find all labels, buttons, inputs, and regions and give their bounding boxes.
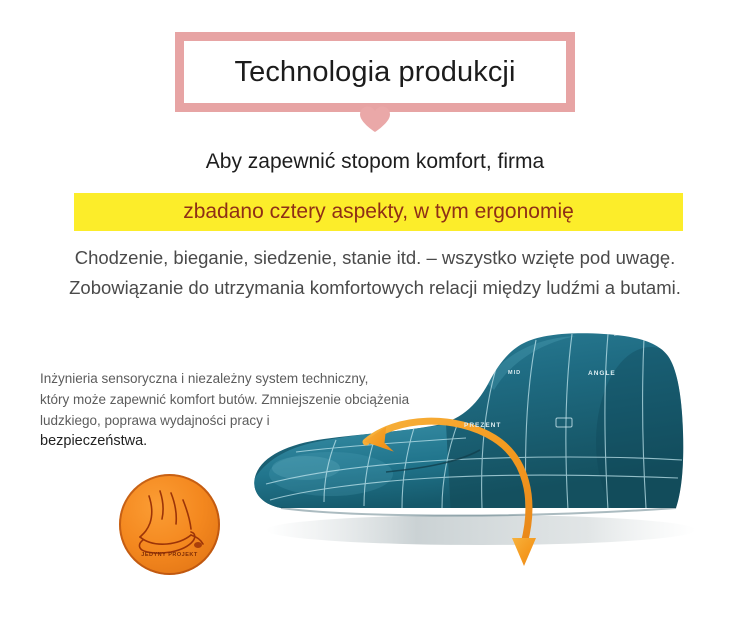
body-paragraph: Chodzenie, bieganie, siedzenie, stanie i… [62,243,688,303]
heart-icon [358,104,392,134]
title-frame-block: Technologia produkcji [175,32,575,112]
page-title: Technologia produkcji [235,56,516,89]
shoe-label-mid: MID [508,370,521,376]
title-inner-area: Technologia produkcji [184,41,566,103]
highlight-text: zbadano cztery aspekty, w tym ergonomię [183,200,574,224]
foot-outline-icon [119,474,220,575]
shoe-last-illustration: PREZENT ANGLE MID [236,322,736,612]
shoe-label-angle: ANGLE [588,370,616,377]
poster-root: Technologia produkcji Aby zapewnić stopo… [0,0,750,630]
lead-line: Aby zapewnić stopom komfort, firma [0,150,750,174]
highlight-band: zbadano cztery aspekty, w tym ergonomię [74,193,683,231]
shoe-label-prezent: PREZENT [464,422,501,429]
jedyny-projekt-badge: JEDYNY PROJEKT [119,474,220,575]
arrow-head-bottom [512,538,536,566]
badge-caption: JEDYNY PROJEKT [119,552,220,558]
